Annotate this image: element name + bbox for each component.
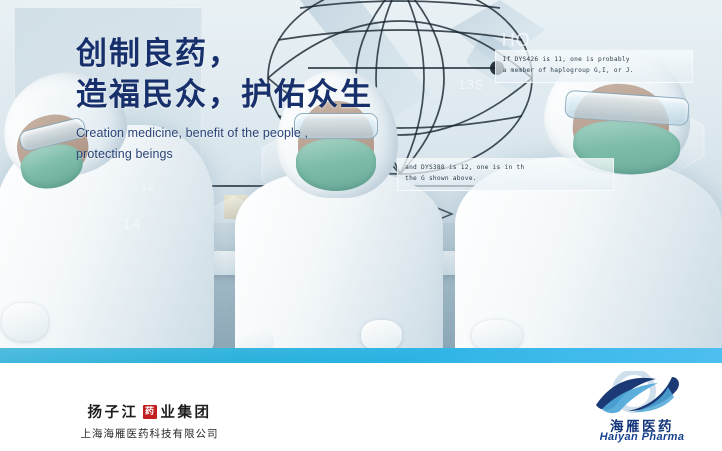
label-ho: HO <box>502 30 531 51</box>
haiyan-name-en: Haiyan Pharma <box>572 431 712 443</box>
red-seal-icon: 药 <box>143 405 157 419</box>
latex-glove <box>2 303 47 341</box>
headline-line-1: 创制良药， <box>76 34 496 75</box>
brand-name-row: 扬子江 药 业集团 <box>62 401 237 422</box>
brand-cn-part1: 扬子江 <box>88 401 139 422</box>
blue-divider-band <box>0 348 722 363</box>
haiyan-pharma-logo: 海雁医药 Haiyan Pharma <box>572 371 712 447</box>
company-name-cn: 上海海雁医药科技有限公司 <box>62 426 237 441</box>
headline-block: 创制良药， 造福民众，护佑众生 Creation medicine, benef… <box>76 34 496 165</box>
latex-glove <box>472 320 523 348</box>
headline-line-2: 造福民众，护佑众生 <box>76 75 496 116</box>
latex-glove <box>238 327 275 348</box>
footer: 扬子江 药 业集团 上海海雁医药科技有限公司 海雁医药 Haiyan Pharm… <box>0 363 722 451</box>
banner-page: HO 13S 12 14 If DYS426 is 11, one is pro… <box>0 0 722 451</box>
hero-photo: HO 13S 12 14 If DYS426 is 11, one is pro… <box>0 0 722 348</box>
brand-cn-part2: 业集团 <box>161 401 212 422</box>
label-14: 14 <box>123 216 142 233</box>
haiyan-bird-mark-icon <box>572 371 712 419</box>
dna-callout-one: If DYS426 is 11, one is probably a membe… <box>495 50 694 83</box>
yangtze-river-pharma-logo: 扬子江 药 业集团 上海海雁医药科技有限公司 <box>62 401 237 441</box>
label-12: 12 <box>141 181 155 193</box>
subtitle-line-2: protecting beings <box>76 144 496 165</box>
band-sheen <box>0 348 722 363</box>
subtitle-line-1: Creation medicine, benefit of the people… <box>76 123 496 144</box>
latex-glove <box>361 320 402 348</box>
